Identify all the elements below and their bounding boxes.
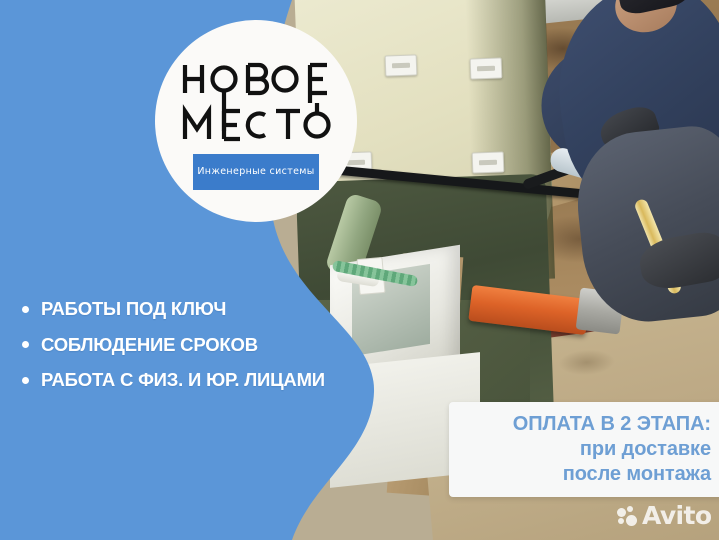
- brand-tagline-label: Инженерные системы: [197, 166, 314, 177]
- benefit-label: РАБОТА С ФИЗ. И ЮР. ЛИЦАМИ: [41, 371, 325, 390]
- bullet-dot-icon: [22, 341, 29, 348]
- payment-terms-card: ОПЛАТА В 2 ЭТАПА: при доставке после мон…: [449, 402, 719, 497]
- bullet-dot-icon: [22, 306, 29, 313]
- payment-stage-1: при доставке: [449, 437, 711, 462]
- list-item: РАБОТЫ ПОД КЛЮЧ: [22, 300, 392, 319]
- payment-stage-2: после монтажа: [449, 462, 711, 487]
- logo-badge-circle: Инженерные системы: [155, 20, 357, 222]
- bullet-dot-icon: [22, 377, 29, 384]
- avito-dots-icon: [617, 506, 637, 526]
- avito-watermark: Avito: [617, 503, 711, 528]
- photo-tank-fitting-4: [472, 151, 505, 173]
- advertisement-banner: Инженерные системы РАБОТЫ ПОД КЛЮЧ СОБЛЮ…: [0, 0, 719, 540]
- brand-tagline-badge: Инженерные системы: [193, 154, 319, 190]
- benefit-label: СОБЛЮДЕНИЕ СРОКОВ: [41, 336, 258, 355]
- benefit-label: РАБОТЫ ПОД КЛЮЧ: [41, 300, 226, 319]
- brand-wordmark: [180, 53, 332, 145]
- payment-heading: ОПЛАТА В 2 ЭТАПА:: [449, 412, 711, 437]
- list-item: СОБЛЮДЕНИЕ СРОКОВ: [22, 336, 392, 355]
- benefits-list: РАБОТЫ ПОД КЛЮЧ СОБЛЮДЕНИЕ СРОКОВ РАБОТА…: [22, 300, 392, 390]
- avito-wordmark: Avito: [642, 503, 711, 528]
- photo-tank-fitting-2: [470, 57, 503, 79]
- list-item: РАБОТА С ФИЗ. И ЮР. ЛИЦАМИ: [22, 371, 392, 390]
